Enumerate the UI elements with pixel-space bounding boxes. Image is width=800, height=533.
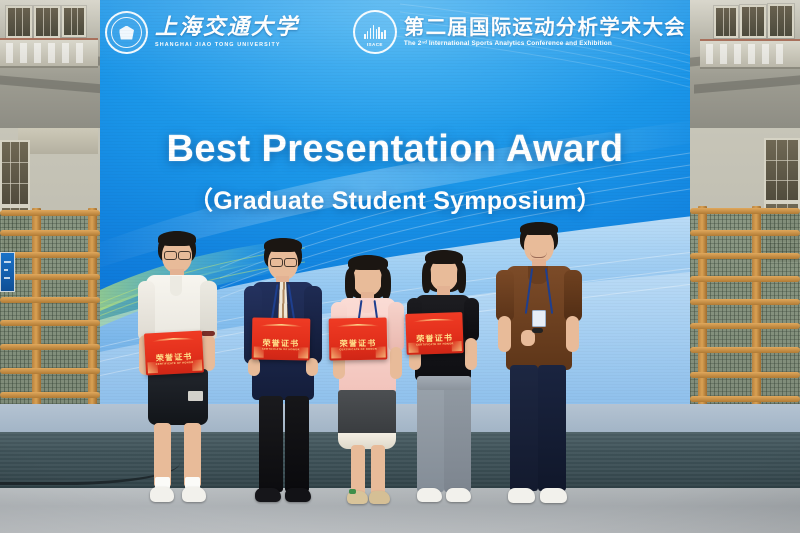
left-leg [351, 445, 365, 495]
hair-front [520, 222, 558, 235]
right-forearm [202, 335, 215, 371]
wall-bars [690, 206, 800, 408]
hair-side [345, 269, 355, 299]
sandal-detail [349, 489, 356, 494]
sneaker [182, 487, 206, 502]
upper-window [768, 4, 794, 38]
awardee-4 [404, 250, 484, 512]
gym-window [764, 138, 800, 202]
left-sleeve [138, 281, 155, 341]
skirt-underlayer [338, 433, 396, 449]
right-trouser [285, 396, 309, 492]
hair-side [422, 263, 431, 293]
hair-side [457, 263, 466, 293]
right-trouser [538, 365, 566, 491]
certificate-1: 荣誉证书 CERTIFICATE OF HONOR [144, 331, 204, 376]
right-forearm [390, 347, 402, 379]
collar [170, 276, 182, 296]
left-jean [417, 376, 444, 492]
dress-shoe [285, 488, 311, 502]
ceremony-photograph: 上海交通大学 SHANGHAI JIAO TONG UNIVERSITY ISA… [0, 0, 800, 533]
presenter [492, 222, 588, 512]
upper-window [740, 5, 766, 38]
shorts-label [188, 391, 203, 401]
right-sleeve [464, 298, 479, 342]
glasses-icon [164, 251, 177, 260]
right-leg [371, 445, 385, 495]
conference-badge [532, 310, 546, 327]
glasses-icon [178, 251, 191, 260]
sneaker [508, 488, 535, 503]
left-trouser [259, 396, 283, 492]
door-header [18, 128, 98, 154]
gym-window [0, 140, 30, 206]
glasses-icon [284, 258, 297, 267]
wristband [532, 328, 543, 333]
left-trouser [510, 365, 538, 491]
upper-window [62, 6, 86, 37]
right-hand [306, 358, 318, 376]
right-sleeve [564, 270, 582, 322]
hair-front [158, 231, 196, 246]
upper-window [34, 6, 60, 38]
right-forearm [465, 338, 477, 370]
right-sleeve [388, 302, 404, 352]
upper-window [6, 6, 32, 38]
balcony-railing [0, 38, 98, 68]
wall-bars [0, 208, 100, 408]
right-forearm [566, 316, 579, 352]
left-sleeve [496, 270, 514, 322]
dress-shoe [255, 488, 281, 502]
sneaker [150, 487, 174, 502]
hair-front [348, 255, 388, 270]
sandal [369, 491, 390, 504]
sneaker [540, 488, 567, 503]
left-hand [248, 358, 260, 376]
wall-poster [0, 252, 15, 292]
left-forearm [498, 316, 511, 352]
certificate-2: 荣誉证书 CERTIFICATE OF HONOR [252, 317, 311, 360]
certificate-4: 荣誉证书 CERTIFICATE OF HONOR [405, 312, 463, 355]
wristwatch [201, 331, 215, 336]
glasses-icon [270, 258, 283, 267]
hair-front [264, 238, 302, 252]
awardee-3 [328, 255, 408, 510]
hair-side [381, 269, 391, 299]
certificate-3: 荣誉证书 CERTIFICATE OF HONOR [329, 317, 388, 360]
awardee-2 [240, 238, 326, 510]
jean-waistband [417, 376, 471, 390]
sneaker [417, 488, 442, 502]
hair-front [425, 250, 463, 264]
upper-window [714, 6, 738, 38]
right-jean [444, 376, 471, 492]
sneaker [446, 488, 471, 502]
balcony-railing [700, 39, 800, 69]
